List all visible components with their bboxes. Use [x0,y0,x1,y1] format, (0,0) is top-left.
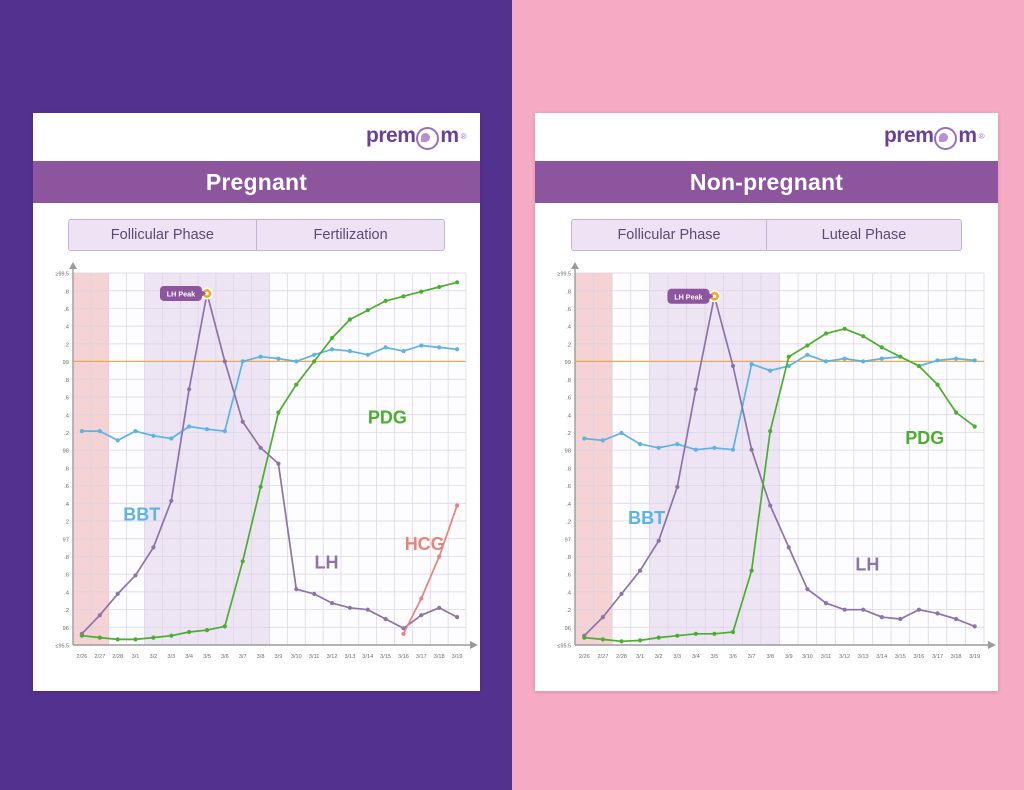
series-point-BBT [768,369,772,373]
x-axis-tick-label: 3/15 [380,654,391,660]
x-axis-tick-label: 3/12 [839,654,850,660]
series-point-PDG [768,429,772,433]
phase-tab-fertilization[interactable]: Fertilization [256,220,444,250]
series-point-PDG [437,285,441,289]
series-point-BBT [582,436,586,440]
series-point-PDG [675,634,679,638]
series-point-PDG [187,630,191,634]
y-axis-tick-label: .2 [64,342,69,348]
x-axis-tick-label: 3/14 [362,654,373,660]
panel-title-non-pregnant: Non-pregnant [535,161,998,203]
x-axis-tick-label: 2/26 [579,654,590,660]
series-point-LH [935,611,939,615]
series-point-PDG [259,485,263,489]
series-point-BBT [205,427,209,431]
x-axis-tick-label: 3/9 [275,654,283,660]
series-point-PDG [330,336,334,340]
series-point-LH [384,617,388,621]
series-point-BBT [638,442,642,446]
hormone-chart-non-pregnant: ≥99.5.8.6.4.299.8.6.4.298.8.6.4.297.8.6.… [535,259,998,689]
series-point-PDG [205,628,209,632]
y-axis-tick-label: .8 [64,378,69,384]
x-axis-tick-label: 3/4 [692,654,700,660]
series-point-LH [294,587,298,591]
comparison-infographic: premm® Pregnant Follicular Phase Fertili… [0,0,1024,790]
series-point-BBT [401,349,405,353]
series-point-PDG [276,410,280,414]
series-point-PDG [657,636,661,640]
x-axis-tick-label: 3/16 [398,654,409,660]
y-axis-tick-label: 96 [565,626,571,632]
logo-text-post: m [440,124,458,148]
series-point-BBT [133,429,137,433]
x-axis-tick-label: 2/27 [597,654,608,660]
series-point-PDG [638,638,642,642]
x-axis-tick-label: 3/6 [729,654,737,660]
y-axis-tick-label: ≥99.5 [558,272,571,278]
series-point-BBT [276,357,280,361]
y-axis-tick-label: 98 [565,449,571,455]
series-point-PDG [419,290,423,294]
series-point-BBT [259,355,263,359]
y-axis-tick-label: 98 [63,449,69,455]
y-axis-arrow-icon [571,262,579,269]
y-axis-tick-label: .4 [64,590,70,596]
series-point-BBT [973,358,977,362]
series-point-LH [898,617,902,621]
series-point-BBT [712,446,716,450]
series-point-PDG [861,334,865,338]
y-axis-tick-label: .2 [64,431,69,437]
y-axis-tick-label: .4 [566,413,572,419]
series-point-BBT [935,358,939,362]
series-label-LH: LH [855,555,879,575]
series-point-LH [638,569,642,573]
series-point-BBT [187,424,191,428]
series-point-LH [223,359,227,363]
y-axis-tick-label: .6 [64,307,69,313]
series-point-BBT [384,345,388,349]
series-point-LH [98,613,102,617]
series-point-PDG [805,343,809,347]
series-point-LH [455,615,459,619]
series-point-BBT [241,359,245,363]
phase-tabs-non-pregnant: Follicular Phase Luteal Phase [571,219,962,251]
series-point-BBT [294,359,298,363]
series-point-BBT [861,359,865,363]
y-axis-tick-label: .2 [566,431,571,437]
series-point-BBT [116,438,120,442]
series-point-LH [187,387,191,391]
series-point-LH [437,606,441,610]
series-point-LH [973,624,977,628]
series-point-PDG [843,327,847,331]
logo-text-post: m [958,124,976,148]
series-point-PDG [455,280,459,284]
series-point-PDG [824,331,828,335]
x-axis-tick-label: 3/12 [327,654,338,660]
series-point-LH [880,615,884,619]
y-axis-tick-label: .6 [566,396,571,402]
series-point-LH [954,617,958,621]
series-point-PDG [384,299,388,303]
x-axis-tick-label: 3/1 [636,654,644,660]
x-axis-tick-label: 2/26 [76,654,87,660]
series-point-PDG [898,355,902,359]
series-point-LH [241,420,245,424]
series-point-LH [768,503,772,507]
series-point-BBT [348,349,352,353]
x-axis-tick-label: 2/28 [616,654,627,660]
series-point-PDG [787,355,791,359]
series-point-PDG [935,383,939,387]
series-point-LH [276,462,280,466]
series-point-LH [750,448,754,452]
x-axis-tick-label: 3/16 [913,654,924,660]
y-axis-tick-label: .6 [566,307,571,313]
series-point-HCG [419,596,423,600]
series-point-PDG [116,637,120,641]
hormone-chart-pregnant: ≥99.5.8.6.4.299.8.6.4.298.8.6.4.297.8.6.… [33,259,480,689]
series-point-PDG [954,410,958,414]
series-point-BBT [419,343,423,347]
series-point-BBT [151,434,155,438]
series-point-PDG [582,636,586,640]
series-point-LH [675,485,679,489]
series-point-LH [330,601,334,605]
series-point-LH [116,592,120,596]
x-axis-tick-label: 3/14 [876,654,887,660]
series-point-PDG [601,637,605,641]
y-axis-tick-label: .2 [566,520,571,526]
y-axis-tick-label: .8 [566,555,571,561]
series-point-PDG [294,383,298,387]
lh-peak-badge-label: LH Peak [674,292,702,301]
series-point-PDG [880,345,884,349]
y-axis-tick-label: .4 [64,413,70,419]
series-point-BBT [366,353,370,357]
series-point-BBT [657,446,661,450]
panel-title-pregnant: Pregnant [33,161,480,203]
y-axis-tick-label: ≥99.5 [56,272,69,278]
series-point-BBT [694,448,698,452]
series-point-BBT [312,353,316,357]
x-axis-tick-label: 3/19 [452,654,463,660]
series-point-LH [169,499,173,503]
series-point-BBT [675,442,679,446]
y-axis-tick-label: 97 [63,537,69,543]
y-axis-tick-label: .2 [64,520,69,526]
premom-logo: premm® [884,124,984,148]
series-point-BBT [601,438,605,442]
y-axis-tick-label: .8 [64,289,69,295]
chart-area-non-pregnant: ≥99.5.8.6.4.299.8.6.4.298.8.6.4.297.8.6.… [535,259,998,689]
series-point-PDG [917,364,921,368]
y-axis-tick-label: .2 [566,342,571,348]
series-point-PDG [401,294,405,298]
series-point-PDG [151,636,155,640]
y-axis-tick-label: .4 [566,325,572,331]
series-label-PDG: PDG [905,428,944,448]
series-point-LH [843,608,847,612]
series-point-LH [824,601,828,605]
series-point-LH [259,446,263,450]
series-point-PDG [80,634,84,638]
y-axis-tick-label: .6 [566,573,571,579]
band-fertile-window [144,273,269,645]
series-point-LH [731,364,735,368]
series-point-PDG [973,424,977,428]
series-label-PDG: PDG [368,408,407,428]
x-axis-arrow-icon [470,641,478,649]
logo-bar: premm® [535,113,998,161]
trademark-symbol: ® [461,132,466,141]
y-axis-tick-label: .2 [566,608,571,614]
x-axis-tick-label: 3/3 [673,654,681,660]
x-axis-tick-label: 3/3 [167,654,175,660]
x-axis-tick-label: 3/5 [711,654,719,660]
annotation-lh-peak[interactable]: LH Peak [160,286,212,301]
series-point-PDG [348,317,352,321]
y-axis-tick-label: .4 [566,590,572,596]
x-axis-tick-label: 3/2 [655,654,663,660]
x-axis-tick-label: 3/18 [951,654,962,660]
series-point-BBT [98,429,102,433]
y-axis-tick-label: ≤95.5 [56,644,69,650]
x-axis-tick-label: 3/1 [132,654,140,660]
y-axis-tick-label: 99 [565,360,571,366]
series-point-LH [366,608,370,612]
series-point-PDG [223,624,227,628]
series-point-PDG [366,308,370,312]
x-axis-tick-label: 3/18 [434,654,445,660]
y-axis-tick-label: .2 [64,608,69,614]
series-point-HCG [455,503,459,507]
x-axis-tick-label: 3/19 [969,654,980,660]
series-point-LH [619,592,623,596]
series-point-LH [917,608,921,612]
series-point-HCG [437,555,441,559]
x-axis-tick-label: 3/8 [257,654,265,660]
x-axis-tick-label: 3/11 [309,654,319,660]
x-axis-tick-label: 3/8 [766,654,774,660]
x-axis-tick-label: 3/7 [239,654,247,660]
series-point-LH [133,573,137,577]
series-point-LH [787,545,791,549]
series-point-LH [348,606,352,610]
series-point-LH [419,613,423,617]
pregnant-chart-card: premm® Pregnant Follicular Phase Fertili… [33,113,480,691]
series-point-BBT [455,347,459,351]
trademark-symbol: ® [979,132,984,141]
premom-baby-circle-icon [416,127,439,150]
series-point-BBT [223,429,227,433]
phase-tab-follicular[interactable]: Follicular Phase [69,220,256,250]
band-fertile-window [649,273,779,645]
logo-bar: premm® [33,113,480,161]
phase-tab-luteal[interactable]: Luteal Phase [766,220,961,250]
y-axis-tick-label: .6 [64,484,69,490]
x-axis-tick-label: 3/13 [858,654,869,660]
phase-tab-follicular[interactable]: Follicular Phase [572,220,766,250]
series-point-LH [151,545,155,549]
y-axis-tick-label: .8 [64,555,69,561]
series-point-BBT [824,359,828,363]
series-label-BBT: BBT [123,504,160,524]
series-point-LH [805,587,809,591]
series-point-PDG [312,359,316,363]
series-point-PDG [694,632,698,636]
series-point-HCG [401,632,405,636]
series-point-PDG [169,634,173,638]
x-axis-tick-label: 3/4 [185,654,193,660]
y-axis-tick-label: .6 [566,484,571,490]
y-axis-tick-label: .8 [566,378,571,384]
x-axis-tick-label: 3/10 [291,654,302,660]
annotation-lh-peak[interactable]: LH Peak [667,289,719,304]
x-axis-tick-label: 3/6 [221,654,229,660]
series-point-BBT [437,345,441,349]
y-axis-tick-label: ≤95.5 [558,644,571,650]
x-axis-tick-label: 3/17 [416,654,427,660]
y-axis-tick-label: 96 [63,626,69,632]
panel-non-pregnant: premm® Non-pregnant Follicular Phase Lut… [512,0,1024,790]
x-axis-tick-label: 3/13 [344,654,355,660]
y-axis-tick-label: 99 [63,360,69,366]
series-point-LH [694,387,698,391]
y-axis-tick-label: .6 [64,396,69,402]
y-axis-tick-label: .8 [566,289,571,295]
series-point-PDG [241,559,245,563]
y-axis-tick-label: .8 [566,466,571,472]
x-axis-tick-label: 3/2 [149,654,157,660]
x-axis-tick-label: 3/17 [932,654,943,660]
x-axis-tick-label: 2/28 [112,654,123,660]
series-point-PDG [133,637,137,641]
x-axis-tick-label: 3/5 [203,654,211,660]
series-label-BBT: BBT [628,508,665,528]
y-axis-tick-label: .6 [64,573,69,579]
y-axis-arrow-icon [69,262,77,269]
series-label-HCG: HCG [405,534,445,554]
x-axis-tick-label: 3/9 [785,654,793,660]
series-point-LH [861,608,865,612]
series-point-BBT [80,429,84,433]
logo-text-pre: prem [884,124,933,148]
series-point-BBT [619,431,623,435]
x-axis-tick-label: 3/11 [821,654,831,660]
y-axis-tick-label: .4 [64,502,70,508]
lh-peak-badge-label: LH Peak [167,290,195,299]
logo-text-pre: prem [366,124,415,148]
series-label-LH: LH [315,553,339,573]
phase-tabs-pregnant: Follicular Phase Fertilization [68,219,445,251]
y-axis-tick-label: 97 [565,537,571,543]
x-axis-tick-label: 3/7 [748,654,756,660]
x-axis-arrow-icon [988,641,996,649]
series-point-PDG [98,636,102,640]
series-point-BBT [805,353,809,357]
series-point-BBT [880,357,884,361]
series-point-PDG [619,639,623,643]
chart-area-pregnant: ≥99.5.8.6.4.299.8.6.4.298.8.6.4.297.8.6.… [33,259,480,689]
series-point-PDG [731,630,735,634]
series-point-LH [312,592,316,596]
x-axis-tick-label: 2/27 [94,654,105,660]
y-axis-tick-label: .8 [64,466,69,472]
series-point-BBT [843,357,847,361]
panel-pregnant: premm® Pregnant Follicular Phase Fertili… [0,0,512,790]
premom-logo: premm® [366,124,466,148]
series-point-BBT [731,448,735,452]
series-point-PDG [712,632,716,636]
series-point-PDG [750,569,754,573]
series-point-BBT [169,436,173,440]
y-axis-tick-label: .4 [566,502,572,508]
y-axis-tick-label: .4 [64,325,70,331]
premom-baby-circle-icon [934,127,957,150]
x-axis-tick-label: 3/10 [802,654,813,660]
series-point-LH [601,615,605,619]
series-point-LH [657,539,661,543]
series-point-BBT [954,357,958,361]
x-axis-tick-label: 3/15 [895,654,906,660]
series-point-BBT [750,362,754,366]
series-point-BBT [330,347,334,351]
non-pregnant-chart-card: premm® Non-pregnant Follicular Phase Lut… [535,113,998,691]
